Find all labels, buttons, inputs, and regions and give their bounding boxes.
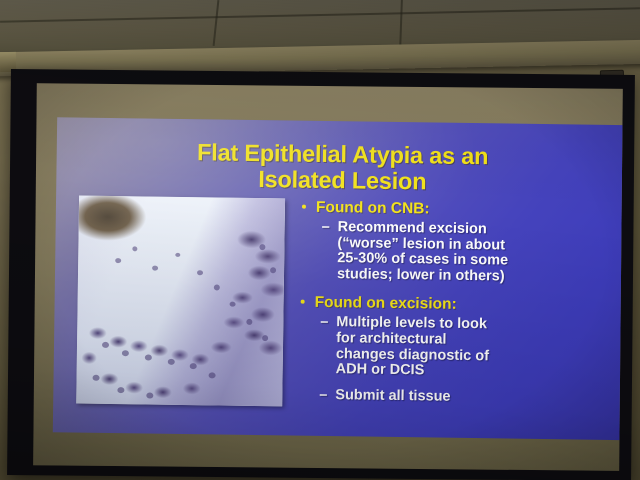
bullet-level2: – Multiple levels to look for architectu… xyxy=(298,315,605,382)
micrograph-cell-nucleus xyxy=(152,265,158,270)
bullet-block-cnb: Found on CNB: – Recommend excision (“wor… xyxy=(299,199,606,287)
bullet-level1-label: Found on CNB: xyxy=(316,199,430,218)
micrograph-cell-nucleus xyxy=(208,372,215,378)
micrograph-cell-nucleus xyxy=(132,246,137,251)
ceiling-tile-seam xyxy=(213,0,220,46)
presentation-slide: Flat Epithelial Atypia as an Isolated Le… xyxy=(53,117,623,440)
ceiling-tile-seam xyxy=(0,7,640,22)
bullet-level2-line: studies; lower in others) xyxy=(337,267,605,286)
slide-title: Flat Epithelial Atypia as an Isolated Le… xyxy=(94,138,591,197)
dash-marker-icon: – xyxy=(320,315,328,331)
micrograph-cell-nucleus xyxy=(167,359,174,365)
micrograph-cell-nucleus xyxy=(146,392,153,398)
bullet-level2-line: ADH or DCIS xyxy=(336,362,604,381)
micrograph-cell-nucleus xyxy=(102,341,109,347)
ceiling-tile-seam xyxy=(399,0,403,50)
bullet-dot-icon xyxy=(302,205,306,209)
bullet-level1: Found on excision: xyxy=(298,294,604,316)
histopathology-micrograph xyxy=(76,196,285,407)
projector-screen-surface: Flat Epithelial Atypia as an Isolated Le… xyxy=(33,83,623,471)
bullet-level1-label: Found on excision: xyxy=(315,294,457,313)
micrograph-image xyxy=(76,196,285,407)
photo-scene: Flat Epithelial Atypia as an Isolated Le… xyxy=(0,0,640,480)
bullet-dot-icon xyxy=(301,300,305,304)
bullet-level2-line: Submit all tissue xyxy=(335,388,603,407)
slide-title-line-2: Isolated Lesion xyxy=(94,164,590,197)
projector-screen-frame: Flat Epithelial Atypia as an Isolated Le… xyxy=(7,69,635,480)
bullet-level2: – Recommend excision (“worse” lesion in … xyxy=(299,220,606,287)
micrograph-cell-nucleus xyxy=(246,319,252,325)
slide-bullet-list: Found on CNB: – Recommend excision (“wor… xyxy=(297,199,606,414)
bullet-level2: – Submit all tissue xyxy=(297,387,603,407)
bullet-level1: Found on CNB: xyxy=(300,199,606,221)
micrograph-cell-nucleus xyxy=(270,267,276,273)
dash-marker-icon: – xyxy=(322,220,330,236)
bullet-block-excision: Found on excision: – Multiple levels to … xyxy=(297,294,604,407)
dash-marker-icon: – xyxy=(319,388,327,404)
micrograph-cell-nucleus xyxy=(175,253,180,257)
